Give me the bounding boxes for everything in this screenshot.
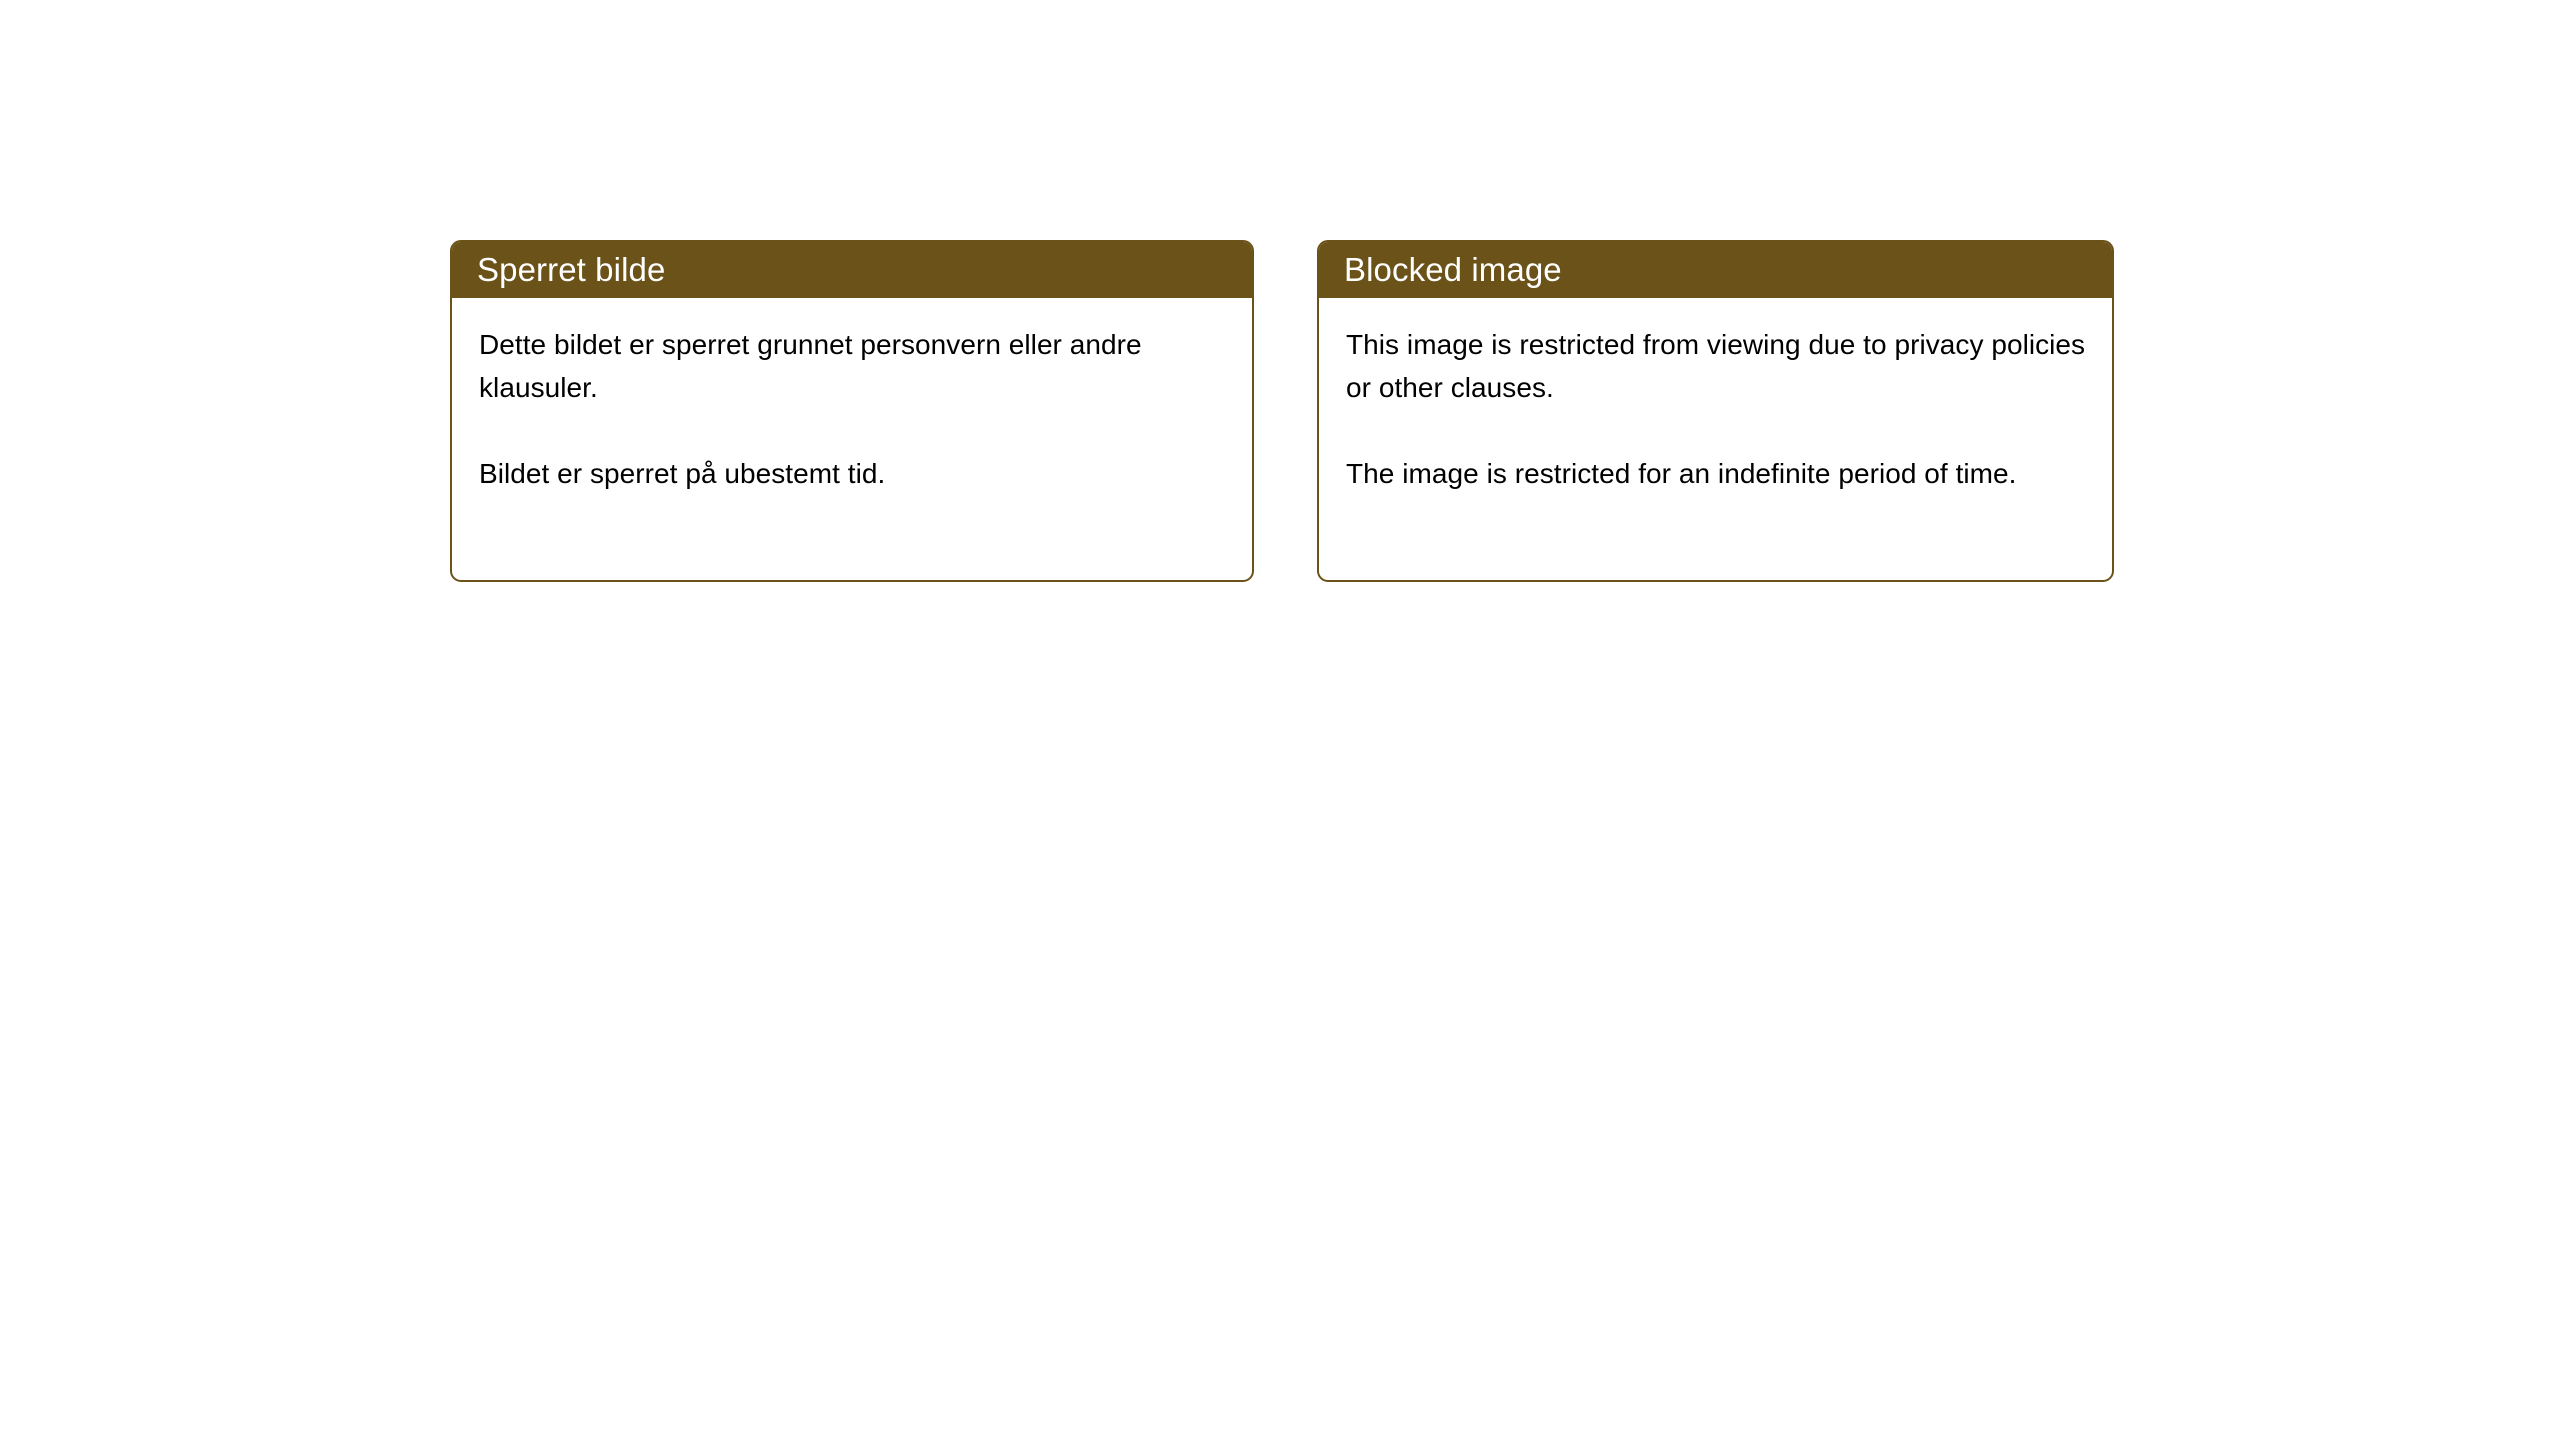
card-paragraph-restriction-duration-norwegian: Bildet er sperret på ubestemt tid. — [479, 452, 1226, 495]
card-paragraph-restriction-duration-english: The image is restricted for an indefinit… — [1346, 452, 2086, 495]
card-header-english: Blocked image — [1317, 240, 2114, 298]
card-paragraph-restriction-reason-english: This image is restricted from viewing du… — [1346, 323, 2086, 409]
card-body-english: This image is restricted from viewing du… — [1319, 298, 2112, 495]
card-title-english: Blocked image — [1344, 253, 1562, 286]
page-canvas: Sperret bilde Dette bildet er sperret gr… — [0, 0, 2560, 1440]
blocked-image-notice-card-english: Blocked image This image is restricted f… — [1317, 240, 2114, 582]
blocked-image-notice-card-norwegian: Sperret bilde Dette bildet er sperret gr… — [450, 240, 1254, 582]
card-title-norwegian: Sperret bilde — [477, 253, 665, 286]
card-header-norwegian: Sperret bilde — [450, 240, 1254, 298]
card-paragraph-restriction-reason-norwegian: Dette bildet er sperret grunnet personve… — [479, 323, 1226, 409]
card-body-norwegian: Dette bildet er sperret grunnet personve… — [452, 298, 1252, 495]
